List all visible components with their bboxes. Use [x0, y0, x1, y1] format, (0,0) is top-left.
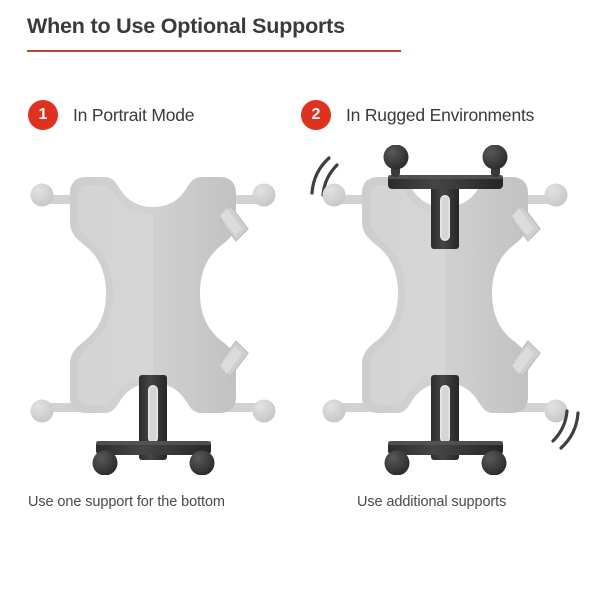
step-number-badge-1: 1 [28, 100, 58, 130]
arm-ball-top-right [545, 184, 568, 207]
step-label-2: In Rugged Environments [346, 105, 534, 126]
page-title: When to Use Optional Supports [27, 14, 345, 39]
support-foot-right [482, 451, 507, 476]
illustration-portrait-mode [8, 145, 298, 475]
top-support-foot-right [483, 145, 508, 170]
arm-ball-bottom-right [253, 400, 276, 423]
support-foot-right [190, 451, 215, 476]
step-number-badge-2: 2 [301, 100, 331, 130]
step-heading-2: 2 In Rugged Environments [301, 100, 534, 130]
support-foot-left [93, 451, 118, 476]
arm-ball-top-left [323, 184, 346, 207]
arm-ball-top-right [253, 184, 276, 207]
step-heading-1: 1 In Portrait Mode [28, 100, 194, 130]
illustration-rugged-environments [300, 145, 590, 475]
arm-ball-top-left [31, 184, 54, 207]
support-foot-left [385, 451, 410, 476]
arm-ball-bottom-left [31, 400, 54, 423]
caption-step-1: Use one support for the bottom [28, 494, 225, 510]
step-label-1: In Portrait Mode [73, 105, 194, 126]
arm-ball-bottom-left [323, 400, 346, 423]
caption-step-2: Use additional supports [357, 494, 506, 510]
illustration-page: When to Use Optional Supports 1 In Portr… [0, 0, 600, 600]
top-support-foot-left [384, 145, 409, 170]
cradle-highlight [78, 185, 153, 405]
title-underline-rule [27, 50, 401, 52]
